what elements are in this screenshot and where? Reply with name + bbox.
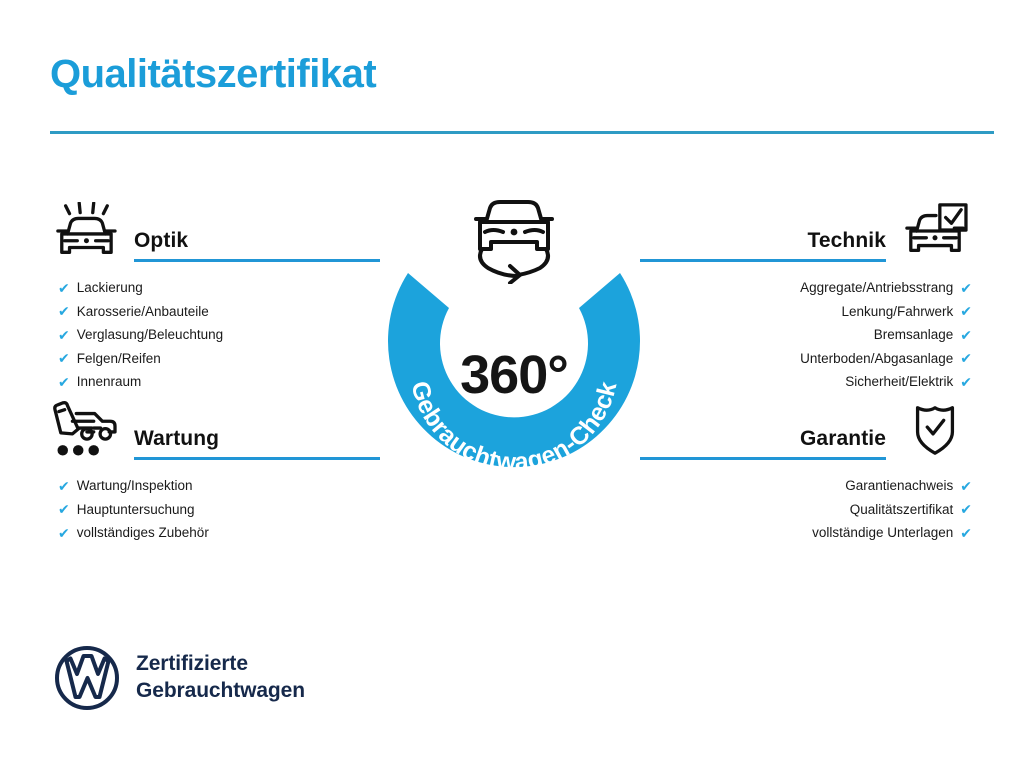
- section-title-garantie: Garantie: [640, 427, 886, 457]
- check-icon: ✔: [58, 351, 70, 365]
- car-front-rotate-icon: [460, 192, 568, 284]
- badge-360-gebrauchtwagen-check: Gebrauchtwagen-Check 360°: [372, 192, 656, 492]
- check-icon: ✔: [58, 375, 70, 389]
- section-wartung: Wartung ✔Wartung/Inspektion ✔Hauptunters…: [48, 398, 380, 545]
- check-icon: ✔: [960, 375, 972, 389]
- list-item-label: Wartung/Inspektion: [77, 474, 193, 498]
- check-icon: ✔: [960, 479, 972, 493]
- checklist-garantie: Garantienachweis✔ Qualitätszertifikat✔ v…: [640, 474, 972, 545]
- list-item: Qualitätszertifikat✔: [640, 498, 972, 522]
- list-item: Unterboden/Abgasanlage✔: [640, 347, 972, 371]
- car-front-checkbox-icon: [898, 200, 972, 262]
- list-item-label: Lenkung/Fahrwerk: [841, 300, 953, 324]
- footer-logo-line1: Zertifizierte: [136, 651, 305, 678]
- list-item: vollständige Unterlagen✔: [640, 521, 972, 545]
- section-technik: Technik Aggregate/Antriebsstrang✔ Lenkun…: [640, 200, 972, 394]
- list-item: ✔Lackierung: [48, 276, 380, 300]
- page-title: Qualitätszertifikat: [50, 52, 376, 96]
- checklist-optik: ✔Lackierung ✔Karosserie/Anbauteile ✔Verg…: [48, 276, 380, 394]
- list-item: Aggregate/Antriebsstrang✔: [640, 276, 972, 300]
- list-item-label: Sicherheit/Elektrik: [845, 370, 953, 394]
- list-item-label: vollständiges Zubehör: [77, 521, 209, 545]
- check-icon: ✔: [960, 328, 972, 342]
- section-optik: Optik ✔Lackierung ✔Karosserie/Anbauteile…: [48, 200, 380, 394]
- checklist-wartung: ✔Wartung/Inspektion ✔Hauptuntersuchung ✔…: [48, 474, 380, 545]
- footer-logo-line2: Gebrauchtwagen: [136, 678, 305, 705]
- footer-logo-text: Zertifizierte Gebrauchtwagen: [136, 651, 305, 705]
- section-title-wartung: Wartung: [134, 427, 380, 457]
- section-underline-wartung: [134, 457, 380, 460]
- list-item-label: Felgen/Reifen: [77, 347, 161, 371]
- car-front-shine-icon: [48, 200, 122, 262]
- list-item: ✔vollständiges Zubehör: [48, 521, 380, 545]
- list-item: Lenkung/Fahrwerk✔: [640, 300, 972, 324]
- list-item-label: Bremsanlage: [874, 323, 954, 347]
- list-item: Sicherheit/Elektrik✔: [640, 370, 972, 394]
- check-icon: ✔: [58, 328, 70, 342]
- section-title-optik: Optik: [134, 229, 380, 259]
- check-icon: ✔: [960, 526, 972, 540]
- list-item: ✔Felgen/Reifen: [48, 347, 380, 371]
- list-item-label: Unterboden/Abgasanlage: [800, 347, 953, 371]
- check-icon: ✔: [960, 304, 972, 318]
- list-item-label: Qualitätszertifikat: [850, 498, 954, 522]
- list-item-label: Lackierung: [77, 276, 143, 300]
- section-title-technik: Technik: [640, 229, 886, 259]
- list-item: ✔Wartung/Inspektion: [48, 474, 380, 498]
- check-icon: ✔: [58, 281, 70, 295]
- section-underline-optik: [134, 259, 380, 262]
- list-item-label: Hauptuntersuchung: [77, 498, 195, 522]
- list-item: ✔Verglasung/Beleuchtung: [48, 323, 380, 347]
- check-icon: ✔: [58, 304, 70, 318]
- pen-car-service-icon: [48, 398, 122, 460]
- section-underline-technik: [640, 259, 886, 262]
- title-divider: [50, 131, 994, 134]
- footer-logo: Zertifizierte Gebrauchtwagen: [54, 645, 305, 711]
- check-icon: ✔: [960, 281, 972, 295]
- list-item-label: Innenraum: [77, 370, 142, 394]
- check-icon: ✔: [58, 479, 70, 493]
- list-item: Bremsanlage✔: [640, 323, 972, 347]
- check-icon: ✔: [58, 526, 70, 540]
- list-item-label: Verglasung/Beleuchtung: [77, 323, 223, 347]
- list-item: ✔Karosserie/Anbauteile: [48, 300, 380, 324]
- list-item: ✔Innenraum: [48, 370, 380, 394]
- list-item-label: vollständige Unterlagen: [812, 521, 953, 545]
- check-icon: ✔: [960, 351, 972, 365]
- section-garantie: Garantie Garantienachweis✔ Qualitätszert…: [640, 398, 972, 545]
- vw-logo-icon: [54, 645, 120, 711]
- badge-center-label: 360°: [372, 344, 656, 406]
- list-item: ✔Hauptuntersuchung: [48, 498, 380, 522]
- list-item-label: Garantienachweis: [845, 474, 953, 498]
- checklist-technik: Aggregate/Antriebsstrang✔ Lenkung/Fahrwe…: [640, 276, 972, 394]
- list-item-label: Karosserie/Anbauteile: [77, 300, 209, 324]
- section-underline-garantie: [640, 457, 886, 460]
- shield-check-icon: [898, 398, 972, 460]
- check-icon: ✔: [960, 502, 972, 516]
- check-icon: ✔: [58, 502, 70, 516]
- list-item: Garantienachweis✔: [640, 474, 972, 498]
- list-item-label: Aggregate/Antriebsstrang: [800, 276, 953, 300]
